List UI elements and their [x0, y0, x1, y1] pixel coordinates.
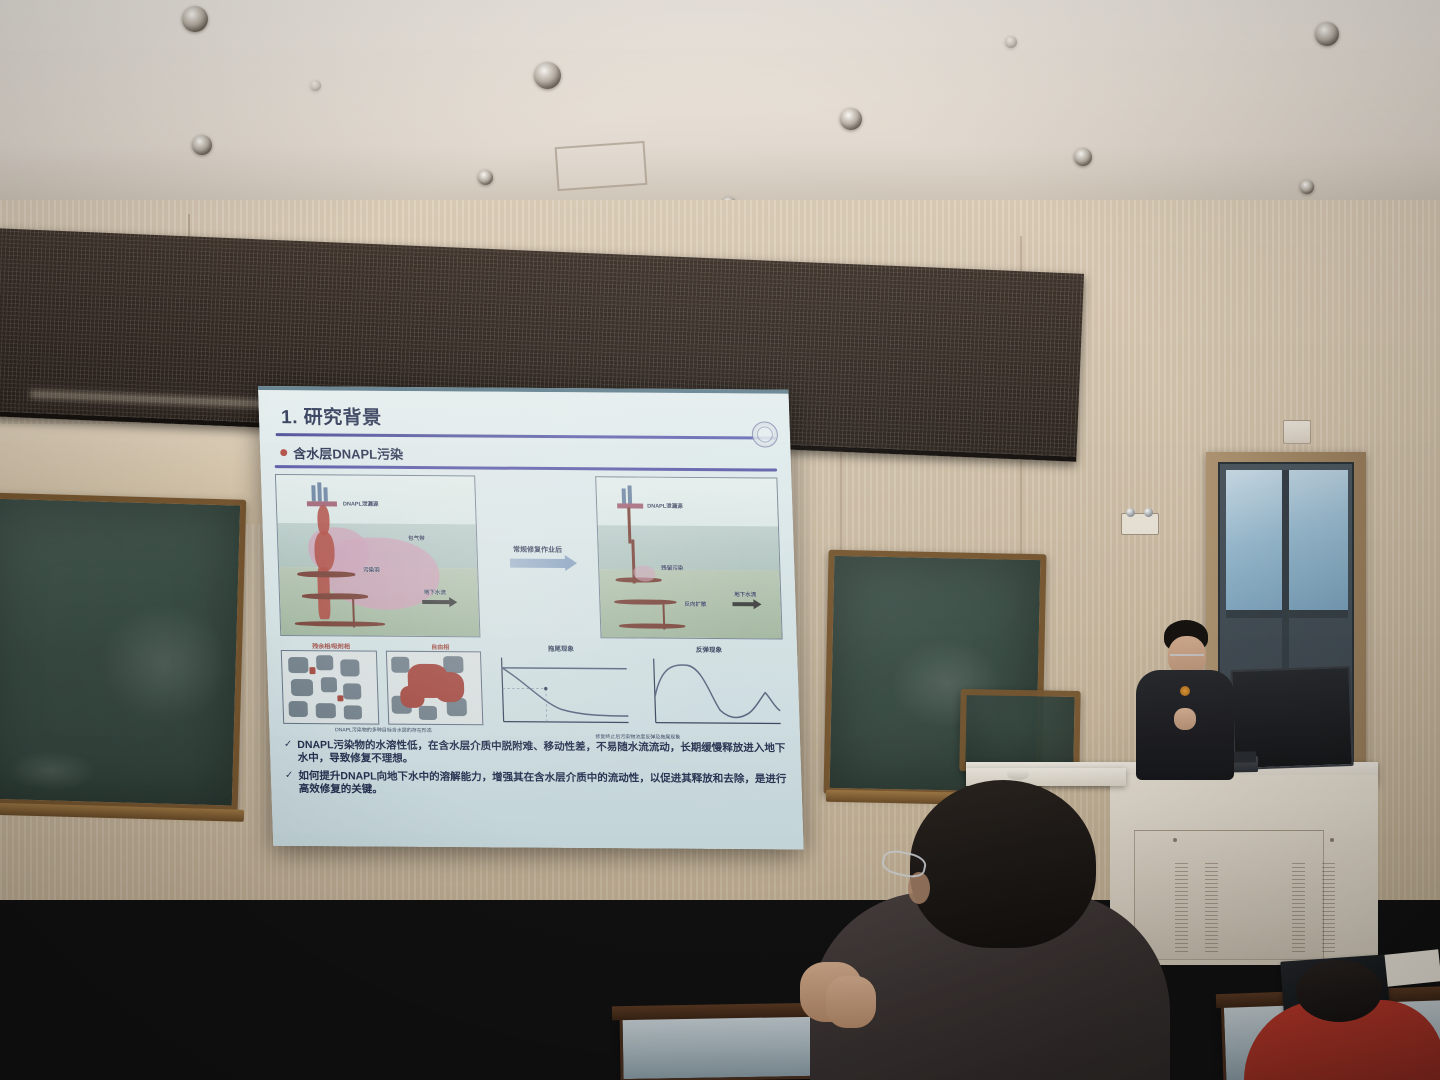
label-vadose: 包气带 [408, 533, 425, 541]
soil-grain [418, 705, 436, 719]
check-icon: ✓ [284, 738, 293, 765]
slide-title: 1. 研究背景 [281, 402, 776, 432]
ceiling-spotlight [534, 62, 561, 89]
dnapl-pool [297, 571, 355, 577]
podium-screw [1330, 838, 1334, 842]
pore-scale-figures: 残余相/吸附相 自由相 [280, 640, 483, 733]
paper-sheet[interactable] [1384, 949, 1440, 986]
ceiling-spotlight [310, 80, 321, 91]
door-mullion [1282, 470, 1289, 610]
ceiling-spotlight [1005, 36, 1017, 48]
dnapl-pool [295, 621, 385, 627]
soil-grain [340, 659, 360, 676]
soil-grain [316, 655, 334, 670]
screen-surface: 1. 研究背景 含水层DNAPL污染 [258, 386, 804, 849]
ceiling-access-hatch [555, 141, 648, 191]
residual-pool [619, 623, 685, 628]
label-source: DNAPL泄漏源 [343, 499, 379, 507]
door-mullion [1226, 610, 1348, 618]
ceiling-spotlight [1315, 22, 1339, 46]
ceiling-spotlight [1074, 148, 1092, 166]
vadose-layer [598, 525, 780, 571]
dnapl-film [309, 667, 315, 674]
dnapl-free-phase [433, 671, 464, 701]
chart-title-tailing: 拖尾现象 [548, 642, 574, 652]
pore-caption-right: 自由相 [431, 642, 449, 651]
transition-label: 常规修复作业后 [513, 545, 562, 555]
label-plume: 污染羽 [363, 565, 380, 573]
source-drum [317, 482, 322, 501]
soil-grain [391, 656, 410, 672]
pore-caption-left: 残余相/吸附相 [312, 641, 350, 650]
soil-grain [288, 656, 309, 672]
presenter-glasses [1170, 654, 1204, 656]
wall-control-panel[interactable] [1283, 420, 1311, 444]
slide-bullet: ✓ DNAPL污染物的水溶性低，在含水层介质中脱附难、移动性差，不易随水流流动，… [284, 738, 787, 769]
projection-screen: 1. 研究背景 含水层DNAPL污染 [258, 386, 804, 849]
check-icon: ✓ [285, 770, 294, 797]
slide-bullet: ✓ 如何提升DNAPL向地下水中的溶解能力，增强其在含水层介质中的流动性，以促进… [285, 770, 788, 801]
diagram-row: DNAPL泄漏源 包气带 污染羽 地下水流 常规修复作业后 [275, 474, 783, 639]
emergency-lamp [1126, 508, 1135, 517]
chart-tailing [487, 652, 634, 732]
section-rule [275, 465, 777, 471]
audience-clasped-hands [826, 976, 876, 1028]
chart-rebound [639, 653, 786, 733]
chalkboard-left [0, 492, 246, 811]
ceiling-spotlight [478, 170, 493, 185]
pore-image-residual [281, 649, 379, 724]
audience-red-head [1296, 960, 1382, 1022]
ceiling-spotlight [192, 135, 212, 155]
soil-grain [288, 700, 308, 716]
soil-grain [291, 678, 314, 695]
slide-section-heading: 含水层DNAPL污染 [280, 443, 777, 465]
presenter-hand [1174, 708, 1196, 730]
dnapl-before-diagram: DNAPL泄漏源 包气带 污染羽 地下水流 [275, 474, 481, 637]
chalk-smudge [98, 602, 231, 726]
source-drum [627, 485, 632, 503]
podium-vent [1322, 862, 1335, 952]
label-source: DNAPL泄漏源 [647, 501, 683, 509]
soil-grain [344, 705, 362, 719]
secondary-figure-row: 残余相/吸附相 自由相 [280, 640, 785, 735]
residual-pool [614, 599, 676, 604]
ceiling-spotlight [182, 6, 208, 32]
dnapl-free-phase [399, 685, 424, 707]
presenter-badge [1180, 686, 1190, 696]
ceiling-spotlight [840, 108, 862, 130]
slide-bullet-text: DNAPL污染物的水溶性低，在含水层介质中脱附难、移动性差，不易随水流流动，长期… [297, 738, 787, 769]
mini-chart-group: 拖尾现象 反弹现象 [487, 642, 786, 736]
soil-grain [321, 677, 338, 692]
chart-tailing-svg [487, 652, 634, 732]
pore-image-pair [281, 649, 484, 724]
label-flow: 地下水流 [734, 590, 756, 598]
slide-content: 1. 研究背景 含水层DNAPL污染 [258, 390, 804, 849]
source-drum [622, 488, 627, 503]
label-flow: 地下水流 [424, 588, 446, 596]
dnapl-after-diagram: DNAPL泄漏源 残留污染 反向扩散 地下水流 [595, 476, 783, 639]
label-spread: 反向扩散 [684, 599, 706, 607]
presenter [1118, 620, 1248, 780]
chalkboard-strip [959, 689, 1080, 773]
slide-bullet-list: ✓ DNAPL污染物的水溶性低，在含水层介质中脱附难、移动性差，不易随水流流动，… [284, 738, 788, 800]
chart-title-rebound: 反弹现象 [696, 643, 722, 653]
soil-grain [316, 703, 337, 718]
podium-vent [1292, 862, 1305, 952]
slide-section-label: 含水层DNAPL污染 [293, 443, 403, 463]
pore-image-free-phase [385, 650, 483, 725]
mini-charts [487, 652, 786, 733]
ceiling-spotlight [1300, 180, 1314, 194]
audience-member-foreground [790, 780, 1210, 1080]
university-emblem-icon [751, 421, 778, 447]
label-residual: 残留污染 [661, 563, 683, 571]
title-rule [276, 433, 776, 439]
chalk-smudge [6, 749, 97, 791]
groundwater-flow-arrow [422, 599, 450, 603]
pore-note: DNAPL污染物的多种目标含水层的存在形态 [283, 725, 483, 733]
dnapl-pool [302, 593, 368, 599]
transition-arrow-group: 常规修复作业后 [481, 475, 594, 638]
audience-head [910, 780, 1096, 948]
source-drum [311, 485, 316, 501]
source-drum [323, 487, 327, 501]
groundwater-flow-arrow [732, 602, 754, 606]
right-arrow-icon [510, 559, 566, 568]
bullet-dot-icon [280, 449, 287, 456]
slide-bullet-text: 如何提升DNAPL向地下水中的溶解能力，增强其在含水层介质中的流动性，以促进其释… [298, 770, 788, 801]
residual-plume [633, 565, 656, 581]
emergency-light [1121, 513, 1159, 535]
lecture-hall-photo: 1. 研究背景 含水层DNAPL污染 [0, 0, 1440, 1080]
dnapl-film [337, 695, 343, 701]
computer-mouse[interactable] [1007, 769, 1029, 780]
chart-rebound-svg [639, 653, 786, 733]
emergency-lamp [1144, 508, 1153, 517]
soil-grain [343, 683, 362, 699]
